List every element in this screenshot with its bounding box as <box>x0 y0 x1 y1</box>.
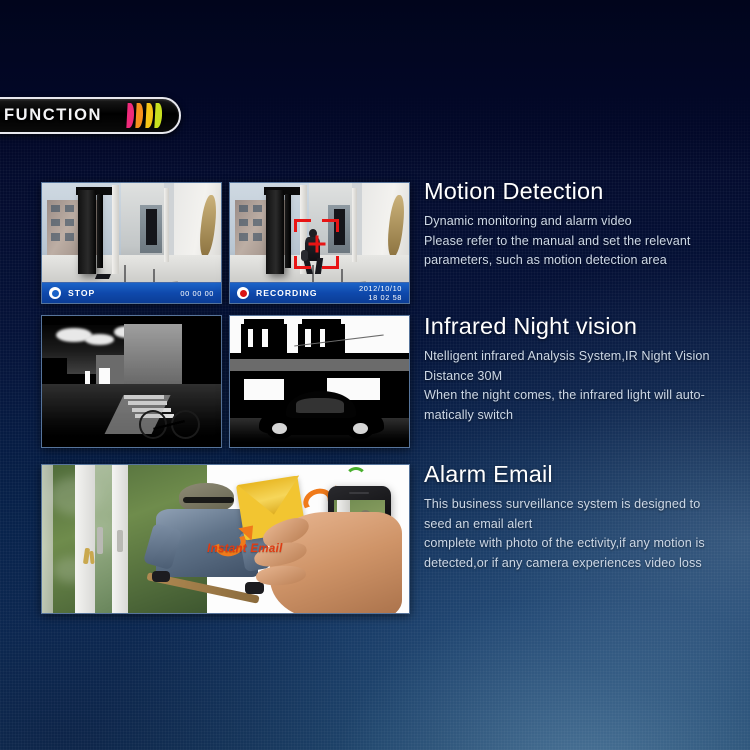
status-label: STOP <box>68 288 180 298</box>
feature-line: complete with photo of the ectivity,if a… <box>424 534 744 554</box>
detection-crosshair-icon <box>308 236 325 253</box>
motion-detection-box <box>294 219 339 269</box>
feature-line: seed an email alert <box>424 515 744 535</box>
night-vision-scene-street <box>42 316 221 447</box>
phone-speaker <box>349 492 369 495</box>
feature-text-night-vision: Infrared Night vision Ntelligent infrare… <box>424 313 744 425</box>
night-vision-scene-car <box>230 316 409 447</box>
feature-text-motion-detection: Motion Detection Dynamic monitoring and … <box>424 178 744 271</box>
stop-indicator-icon <box>49 287 61 299</box>
feature-line: Dynamic monitoring and alarm video <box>424 212 744 232</box>
parked-car <box>259 387 384 439</box>
feature-title: Infrared Night vision <box>424 313 744 340</box>
product-feature-page: FUNCTION <box>0 0 750 750</box>
feature-line: When the night comes, the infrared light… <box>424 386 744 406</box>
feature-title: Motion Detection <box>424 178 744 205</box>
feature-line: parameters, such as motion detection are… <box>424 251 744 271</box>
status-bar-recording: RECORDING 2012/10/10 18 02 58 <box>230 282 409 303</box>
record-indicator-icon <box>237 287 249 299</box>
feature-line: This business surveillance system is des… <box>424 495 744 515</box>
screenshot-stop-frame: STOP 00 00 00 <box>41 182 222 304</box>
instant-email-caption: Instant Email <box>207 543 282 555</box>
screenshot-recording-frame: RECORDING 2012/10/10 18 02 58 <box>229 182 410 304</box>
status-datetime: 2012/10/10 18 02 58 <box>359 284 402 302</box>
alarm-email-scene: Instant Email <box>42 465 409 613</box>
feature-line: Distance 30M <box>424 367 744 387</box>
feature-line: detected,or if any camera experiences vi… <box>424 554 744 574</box>
screenshot-night-right <box>229 315 410 448</box>
feature-line: Ntelligent infrared Analysis System,IR N… <box>424 347 744 367</box>
feature-text-alarm-email: Alarm Email This business surveillance s… <box>424 461 744 573</box>
status-label: RECORDING <box>256 288 359 298</box>
screenshot-alarm-email: Instant Email <box>41 464 410 614</box>
feature-line: matically switch <box>424 406 744 426</box>
status-timecode: 00 00 00 <box>180 289 214 298</box>
status-date: 2012/10/10 <box>359 284 402 293</box>
status-bar-stop: STOP 00 00 00 <box>42 282 221 303</box>
hand-holding-phone <box>270 512 402 614</box>
feature-line: Please refer to the manual and set the r… <box>424 232 744 252</box>
screenshot-night-left <box>41 315 222 448</box>
status-timecode: 18 02 58 <box>368 293 402 302</box>
feature-title: Alarm Email <box>424 461 744 488</box>
